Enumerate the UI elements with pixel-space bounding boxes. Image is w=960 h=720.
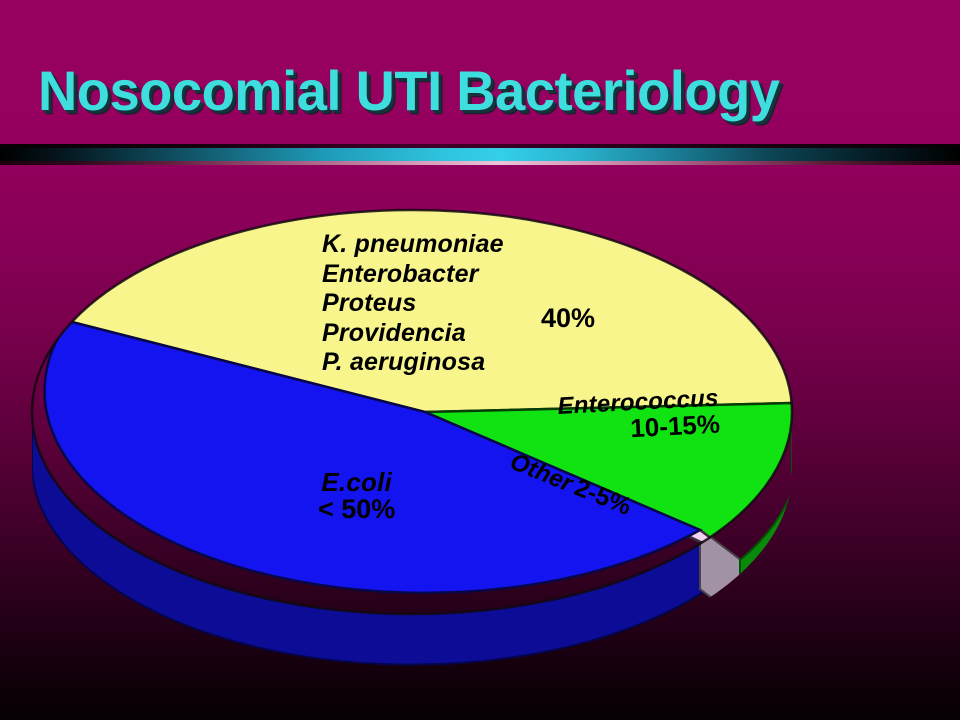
slide-canvas: Nosocomial UTI Bacteriology xyxy=(0,0,960,720)
pie-side-other xyxy=(700,529,742,621)
organism-enterobacter: Enterobacter xyxy=(322,262,504,288)
organism-providencia: Providencia xyxy=(322,321,504,347)
label-enterobacteriaceae-list: K. pneumoniae Enterobacter Proteus Provi… xyxy=(322,232,504,380)
percent-value-ecoli: < 50% xyxy=(318,496,395,524)
label-enterobacteriaceae-percent: 40% xyxy=(541,305,595,333)
label-enterococcus: Enterococcus 10-15% xyxy=(557,387,721,446)
organism-ecoli: E.coli xyxy=(318,469,395,496)
percent-value-enterobacteriaceae: 40% xyxy=(541,303,595,333)
label-ecoli: E.coli < 50% xyxy=(318,469,395,523)
organism-k-pneumoniae: K. pneumoniae xyxy=(322,232,504,258)
organism-proteus: Proteus xyxy=(322,291,504,317)
organism-p-aeruginosa: P. aeruginosa xyxy=(322,350,504,376)
